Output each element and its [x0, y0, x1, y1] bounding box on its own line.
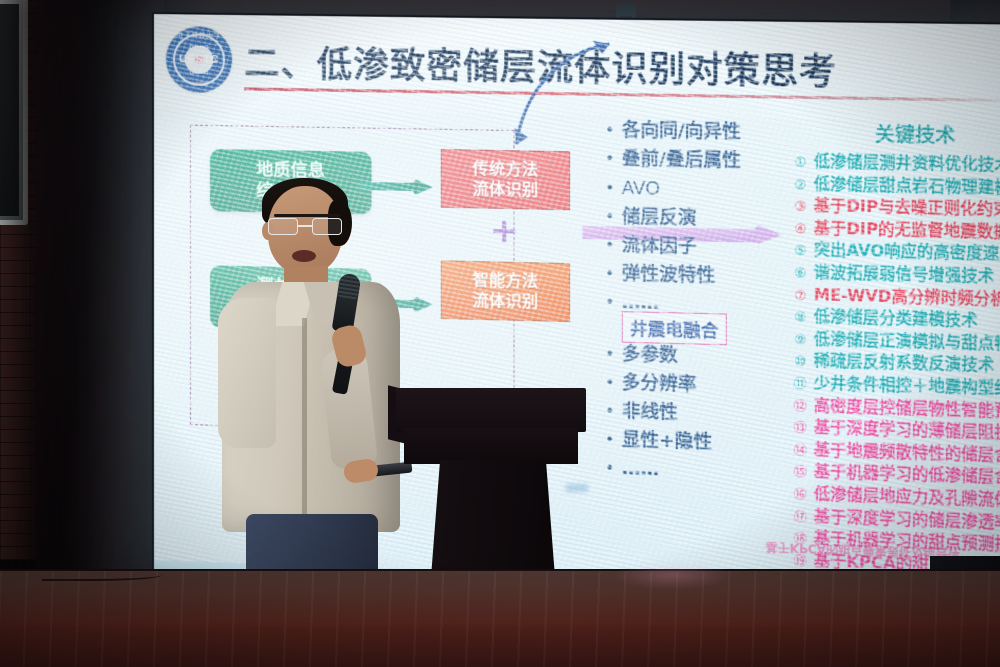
conference-photo: 电子科技大学 UESTC 1956 二、低渗致密储层流体识别对策思考 地质信息综… — [0, 0, 1000, 667]
lens-flare — [612, 560, 732, 590]
presenter — [218, 178, 404, 588]
glasses — [268, 218, 346, 235]
shirt-placket — [302, 318, 307, 518]
floor-reflection — [0, 571, 1000, 667]
mouth — [292, 250, 316, 262]
wall-window — [0, 0, 28, 225]
eyebrow — [274, 214, 340, 217]
lectern — [396, 388, 586, 588]
lectern-top — [396, 388, 586, 432]
lectern-body — [404, 428, 578, 464]
sleeve-left — [218, 298, 276, 448]
stage-curtain-left — [36, 0, 164, 590]
lectern-highlight — [566, 484, 588, 492]
